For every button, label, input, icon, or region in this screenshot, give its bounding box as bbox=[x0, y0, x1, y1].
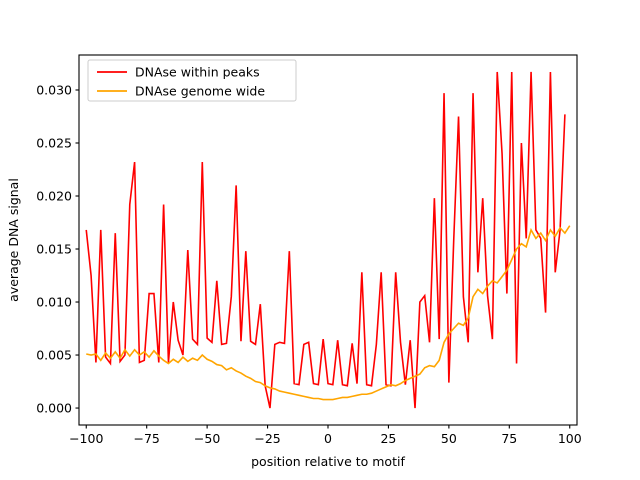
y-axis-title: average DNA signal bbox=[6, 178, 21, 302]
y-tick-label: 0.000 bbox=[36, 401, 72, 416]
chart-canvas: −100−75−50−2502550751000.0000.0050.0100.… bbox=[0, 0, 640, 480]
x-tick-label: 50 bbox=[441, 431, 457, 446]
x-tick-label: 0 bbox=[324, 431, 332, 446]
y-tick-label: 0.010 bbox=[36, 295, 72, 310]
y-tick-label: 0.005 bbox=[36, 348, 72, 363]
x-tick-label: −100 bbox=[69, 431, 103, 446]
x-tick-label: −25 bbox=[254, 431, 280, 446]
legend-layer[interactable]: DNAse within peaksDNAse genome wide bbox=[88, 60, 296, 101]
y-tick-label: 0.020 bbox=[36, 189, 72, 204]
chart-figure: −100−75−50−2502550751000.0000.0050.0100.… bbox=[0, 0, 640, 480]
legend-label-1: DNAse genome wide bbox=[135, 84, 265, 99]
y-tick-label: 0.015 bbox=[36, 242, 72, 257]
x-axis-title: position relative to motif bbox=[251, 454, 405, 469]
x-tick-label: 100 bbox=[558, 431, 582, 446]
x-tick-label: 25 bbox=[380, 431, 396, 446]
x-tick-label: 75 bbox=[501, 431, 517, 446]
y-tick-label: 0.030 bbox=[36, 82, 72, 97]
x-tick-label: −50 bbox=[194, 431, 220, 446]
y-tick-label: 0.025 bbox=[36, 135, 72, 150]
x-tick-label: −75 bbox=[133, 431, 159, 446]
legend-label-0: DNAse within peaks bbox=[135, 65, 260, 80]
